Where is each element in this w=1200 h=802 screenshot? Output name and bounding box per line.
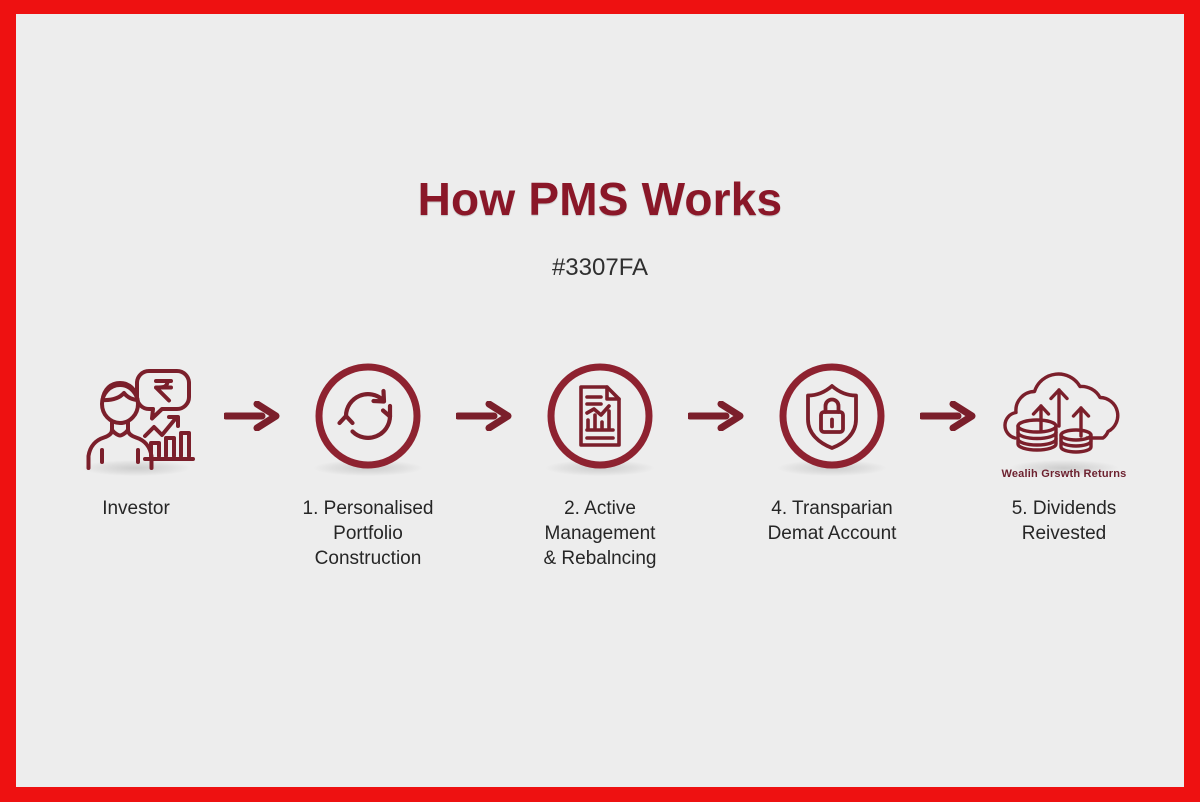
arrow-right-icon: [224, 401, 280, 431]
infographic-canvas: How PMS Works #3307FA: [16, 14, 1184, 787]
flow-arrow-4: [914, 350, 982, 482]
icon-caption-text: Wealih Grswth Returns: [1001, 468, 1126, 480]
cloud-coins-icon-wrap: Wealih Grswth Returns: [982, 350, 1146, 482]
cloud-coins-growth-icon: [993, 364, 1135, 468]
investor-icon-wrap: [54, 350, 218, 482]
investor-rupee-chart-icon: [75, 360, 197, 472]
page-subtitle: #3307FA: [16, 254, 1184, 282]
refresh-icon-wrap: [286, 350, 450, 482]
page-title: How PMS Works: [16, 172, 1184, 226]
flow-step-4: 4. Transparian Demat Account: [750, 350, 914, 546]
refresh-cycle-icon: [312, 360, 424, 472]
flow-arrow-1: [218, 350, 286, 482]
flow-arrow-2: [450, 350, 518, 482]
flow-step-1: 1. Personalised Portfolio Construction: [286, 350, 450, 571]
flow-step-label: 4. Transparian Demat Account: [768, 496, 897, 546]
flow-step-label: Investor: [102, 496, 170, 521]
flow-step-label: 2. Active Management & Rebalncing: [543, 496, 656, 571]
flow-arrow-3: [682, 350, 750, 482]
flow-step-5: Wealih Grswth Returns 5. Dividends Reive…: [982, 350, 1146, 546]
infographic-page: How PMS Works #3307FA: [0, 0, 1200, 802]
flow-step-investor: Investor: [54, 350, 218, 521]
shield-lock-icon: [776, 360, 888, 472]
arrow-right-icon: [688, 401, 744, 431]
document-icon-wrap: [518, 350, 682, 482]
arrow-right-icon: [456, 401, 512, 431]
flow-step-label: 1. Personalised Portfolio Construction: [303, 496, 434, 571]
flow-step-2: 2. Active Management & Rebalncing: [518, 350, 682, 571]
process-flow: Investor: [16, 350, 1184, 571]
arrow-right-icon: [920, 401, 976, 431]
shield-icon-wrap: [750, 350, 914, 482]
document-bar-chart-icon: [544, 360, 656, 472]
flow-step-label: 5. Dividends Reivested: [1012, 496, 1117, 546]
